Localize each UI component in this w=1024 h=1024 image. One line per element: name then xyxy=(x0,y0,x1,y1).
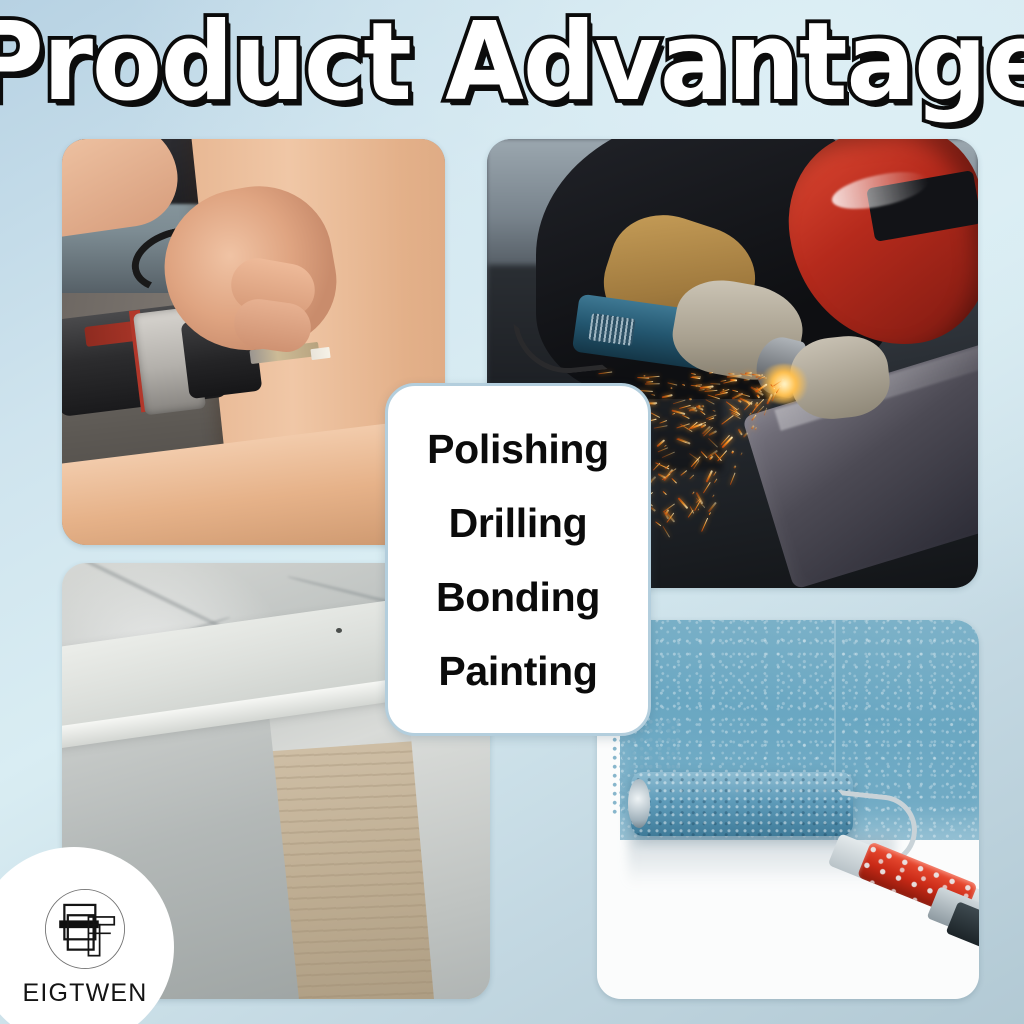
paint-roller-photo xyxy=(597,620,979,999)
services-card: Polishing Drilling Bonding Painting xyxy=(385,383,651,736)
page-title: Product Advantage xyxy=(0,4,1024,120)
service-item-painting: Painting xyxy=(438,649,597,693)
product-advantage-poster: Product Advantage xyxy=(0,0,1024,1024)
service-item-polishing: Polishing xyxy=(427,427,609,471)
brand-name: EIGTWEN xyxy=(22,979,147,1008)
poster-title-container: Product Advantage xyxy=(0,6,1024,118)
service-item-bonding: Bonding xyxy=(436,575,600,619)
service-item-drilling: Drilling xyxy=(449,501,588,545)
paint-roller-photo-artwork xyxy=(597,620,979,999)
eigtwen-monogram-icon xyxy=(42,886,128,972)
